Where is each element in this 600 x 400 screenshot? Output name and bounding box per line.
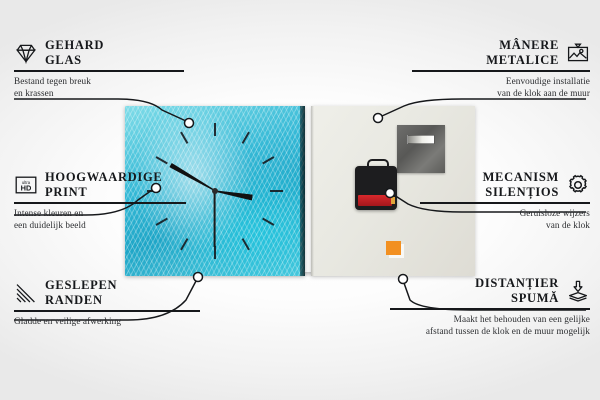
infographic-canvas: GEHARD GLAS Bestand tegen breuk en krass… — [0, 0, 600, 400]
callout-divider — [14, 202, 186, 204]
callout-mecanism-silentios: MECANISM SILENȚIOS Geruisloze wijzers va… — [420, 170, 590, 232]
callout-gehard-glas: GEHARD GLAS Bestand tegen breuk en krass… — [14, 38, 184, 100]
diamond-icon — [14, 41, 38, 65]
hanger-plate — [397, 125, 445, 173]
callout-title: DISTANȚIER SPUMĂ — [475, 276, 559, 305]
callout-title: MÂNERE METALICE — [486, 38, 559, 67]
callout-header: ultra HD HOOGWAARDIGE PRINT — [14, 170, 186, 199]
svg-text:HD: HD — [21, 183, 32, 192]
mechanism-hanger-loop — [367, 159, 389, 171]
clock-mechanism — [355, 166, 397, 210]
bevelled-edge-icon — [14, 281, 38, 305]
foam-spacer — [386, 241, 401, 255]
callout-divider — [14, 310, 200, 312]
clock-tick — [214, 132, 250, 192]
callout-geslepen-randen: GESLEPEN RANDEN Gladde en veilige afwerk… — [14, 278, 200, 327]
callout-title: GEHARD GLAS — [45, 38, 104, 67]
callout-hoogwaardige-print: ultra HD HOOGWAARDIGE PRINT Intense kleu… — [14, 170, 186, 232]
callout-description: Geruisloze wijzers van de klok — [420, 207, 590, 232]
battery-terminal — [391, 197, 395, 204]
clock-center-cap — [212, 188, 218, 194]
callout-divider — [390, 308, 590, 310]
battery — [358, 195, 392, 206]
clock-tick — [214, 123, 216, 191]
ultra-hd-icon: ultra HD — [14, 173, 38, 197]
callout-distantier-spuma: DISTANȚIER SPUMĂ Maakt het behouden van … — [390, 276, 590, 338]
callout-header: GESLEPEN RANDEN — [14, 278, 200, 307]
gear-icon — [566, 173, 590, 197]
callout-header: MÂNERE METALICE — [412, 38, 590, 67]
callout-header: DISTANȚIER SPUMĂ — [390, 276, 590, 305]
callout-header: GEHARD GLAS — [14, 38, 184, 67]
spacer-press-icon — [566, 279, 590, 303]
callout-header: MECANISM SILENȚIOS — [420, 170, 590, 199]
callout-title: HOOGWAARDIGE PRINT — [45, 170, 162, 199]
callout-divider — [412, 70, 590, 72]
hanger-slot — [407, 135, 435, 144]
clock-second-hand — [214, 191, 216, 247]
callout-description: Eenvoudige installatie van de klok aan d… — [412, 75, 590, 100]
framed-picture-icon — [566, 41, 590, 65]
callout-description: Bestand tegen breuk en krassen — [14, 75, 184, 100]
callout-description: Intense kleuren en een duidelijk beeld — [14, 207, 186, 232]
callout-title: MECANISM SILENȚIOS — [483, 170, 559, 199]
callout-description: Maakt het behouden van een gelijke afsta… — [390, 313, 590, 338]
callout-divider — [14, 70, 184, 72]
callout-divider — [420, 202, 590, 204]
callout-manere-metalice: MÂNERE METALICE Eenvoudige installatie v… — [412, 38, 590, 100]
callout-title: GESLEPEN RANDEN — [45, 278, 117, 307]
callout-description: Gladde en veilige afwerking — [14, 315, 200, 328]
